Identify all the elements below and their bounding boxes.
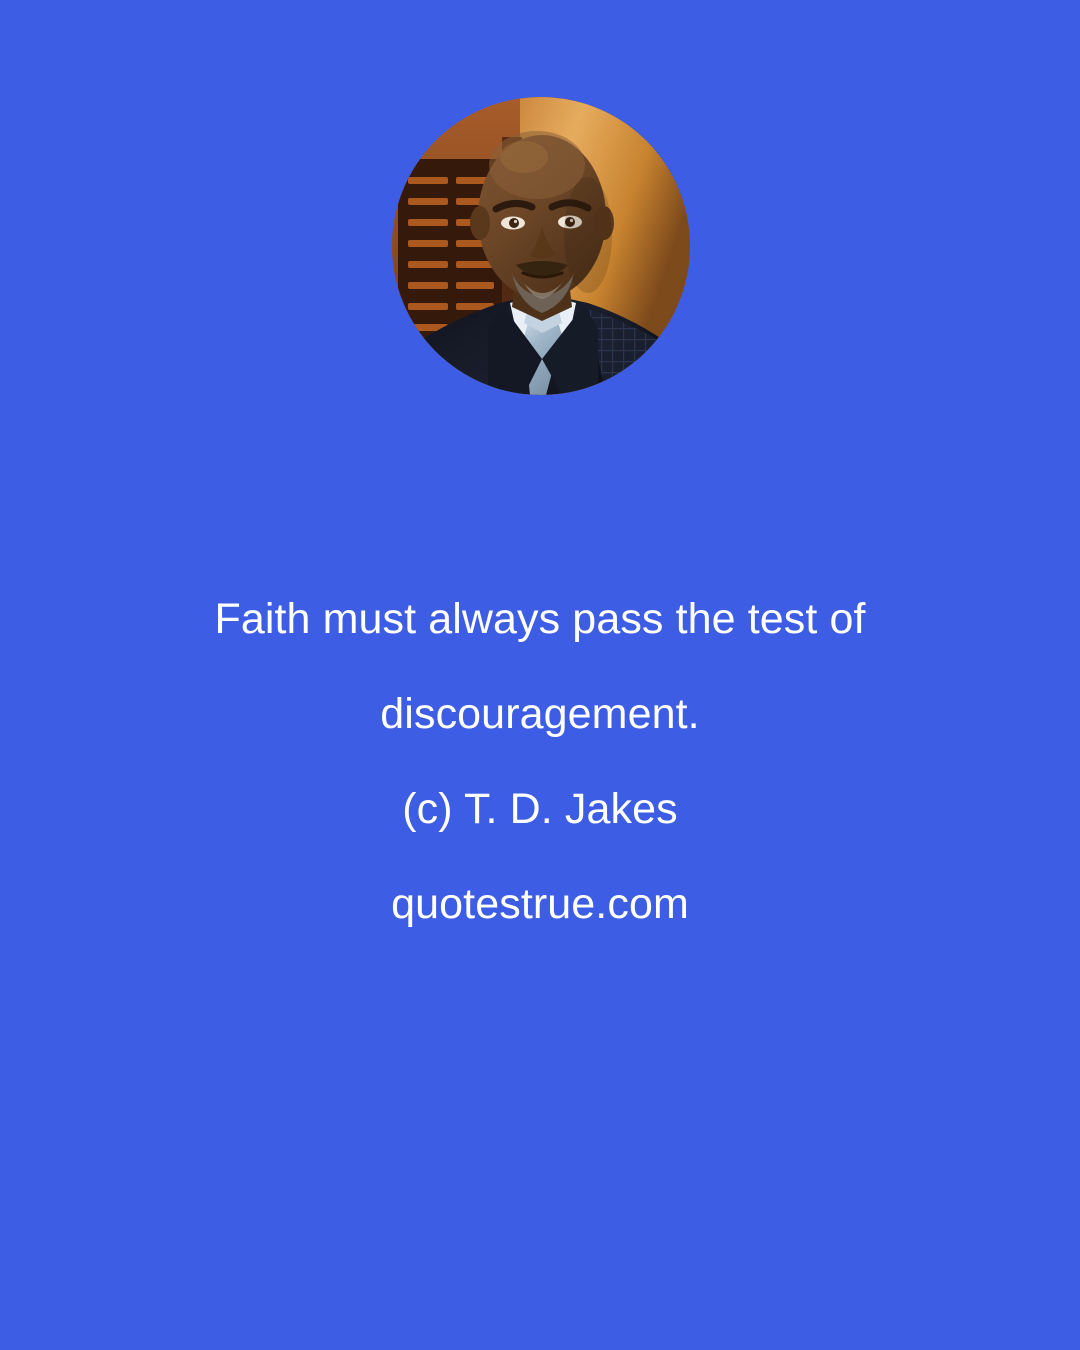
attribution: (c) T. D. Jakes bbox=[0, 762, 1080, 857]
avatar bbox=[392, 97, 690, 395]
quote-line-2: discouragement. bbox=[0, 667, 1080, 762]
quote-card: Faith must always pass the test of disco… bbox=[0, 0, 1080, 1350]
source-website: quotestrue.com bbox=[0, 857, 1080, 952]
quote-line-1: Faith must always pass the test of bbox=[0, 572, 1080, 667]
quote-text-block: Faith must always pass the test of disco… bbox=[0, 572, 1080, 952]
portrait-container bbox=[392, 97, 690, 395]
portrait-photo bbox=[392, 97, 690, 395]
